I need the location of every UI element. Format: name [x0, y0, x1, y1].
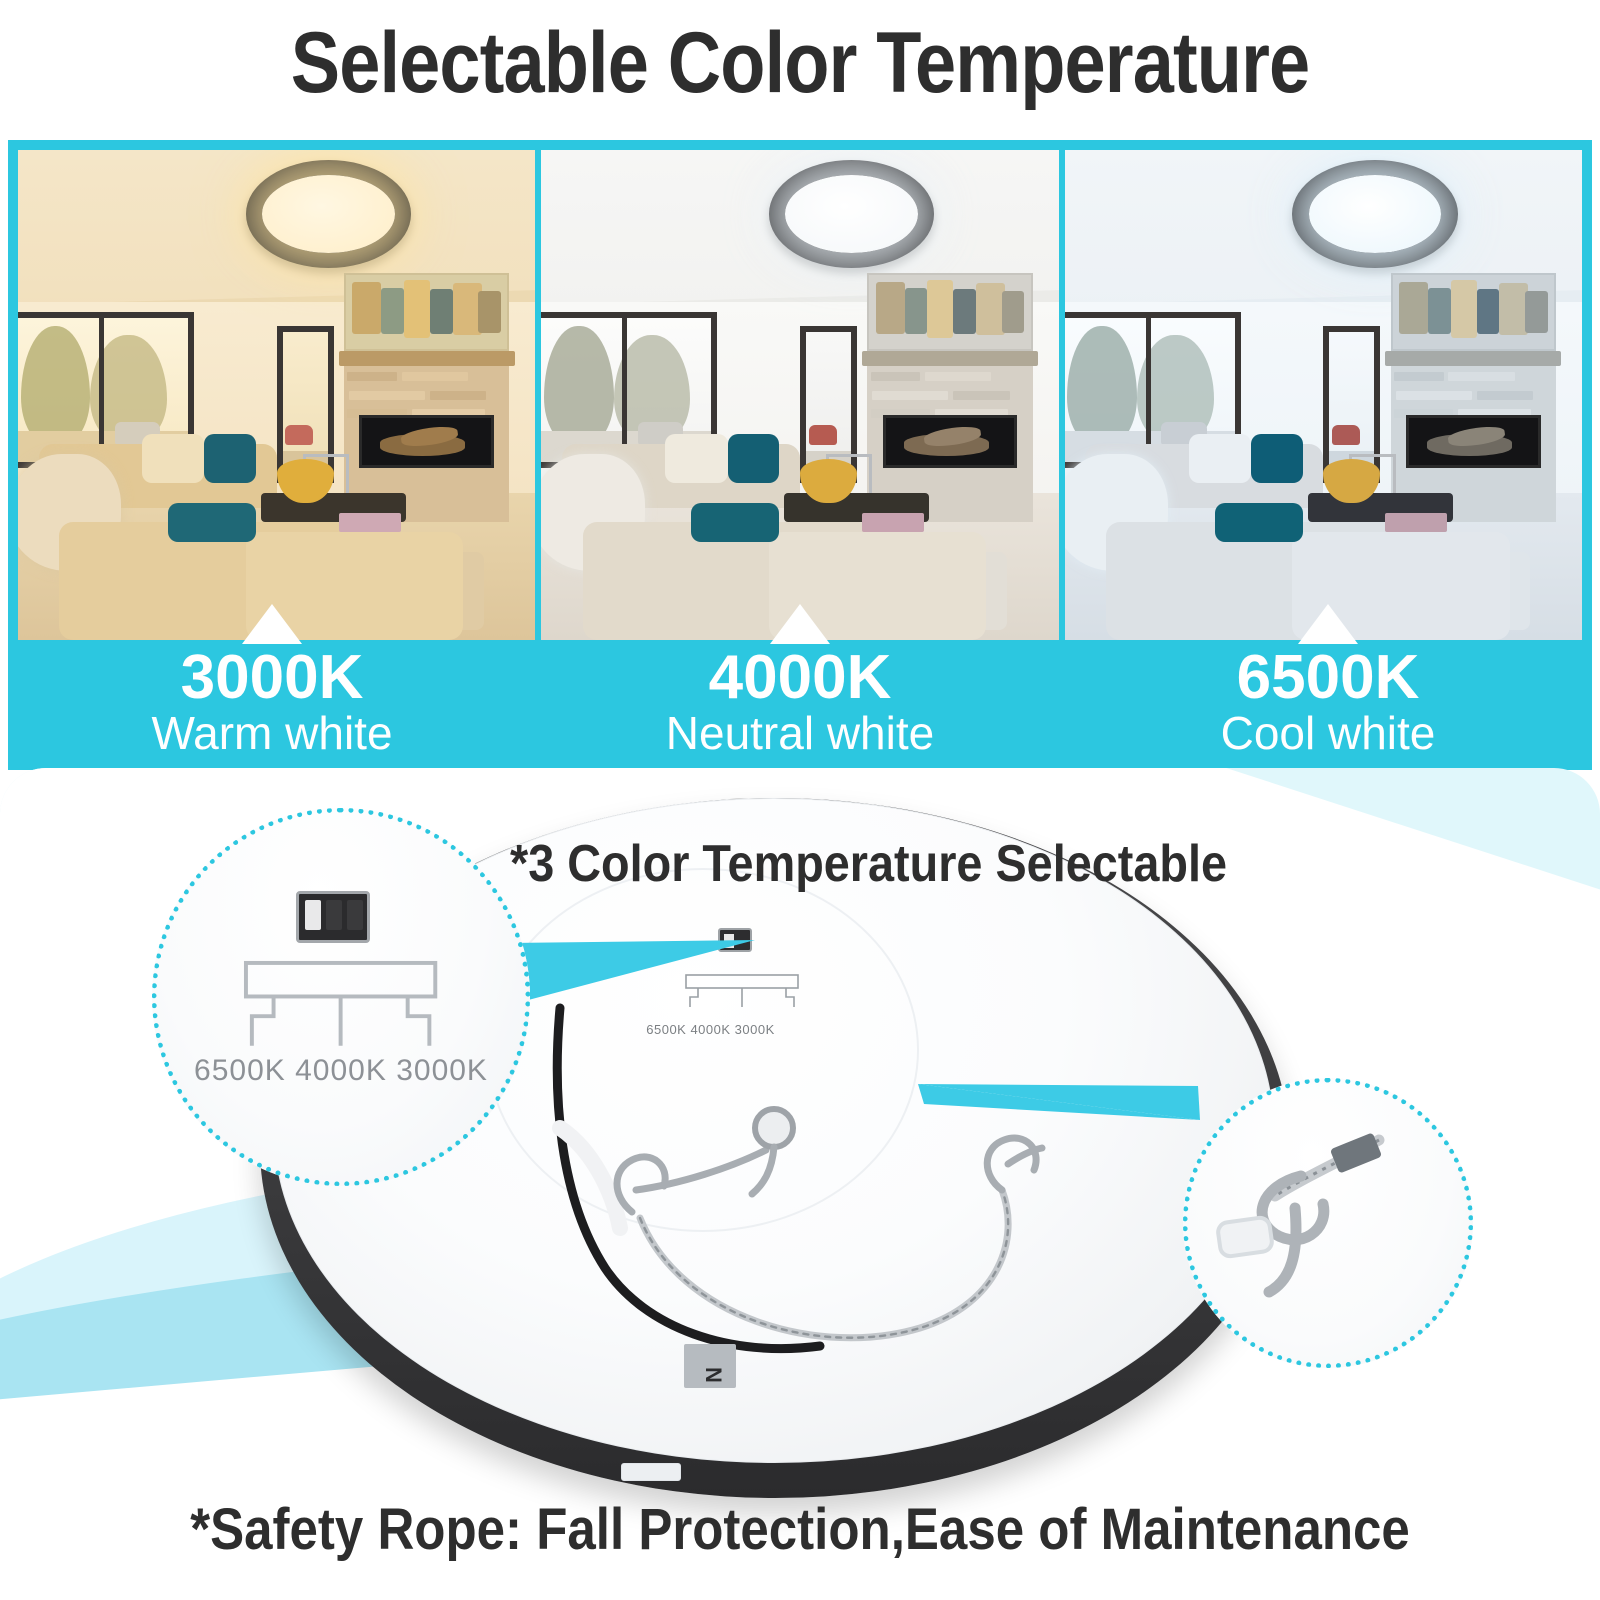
teal-pillow [168, 503, 256, 542]
book [862, 513, 924, 533]
mantel [1385, 351, 1561, 366]
ceiling-light-fixture [246, 160, 412, 268]
wall-art [1391, 273, 1557, 351]
teal-pillow [204, 434, 256, 483]
room-scene-6500k [1065, 150, 1582, 640]
throw-pillow [142, 434, 204, 483]
window-mullion [622, 318, 627, 463]
car [1332, 425, 1360, 445]
kelvin-name: Cool white [1221, 709, 1436, 757]
firebox [1406, 415, 1541, 469]
subsection-title: *3 Color Temperature Selectable [510, 834, 1227, 894]
temperature-label-band: 3000K Warm white 4000K Neutral white 650… [8, 640, 1592, 770]
book [1385, 513, 1447, 533]
dip-switch-zoomed[interactable] [296, 891, 370, 943]
switch-toggle-3000k[interactable] [347, 900, 363, 930]
pointer-triangle-icon [242, 604, 302, 644]
teal-pillow [1215, 503, 1303, 542]
teal-pillow [691, 503, 779, 542]
kelvin-name: Neutral white [666, 709, 934, 757]
teal-pillow [1251, 434, 1303, 483]
temperature-options-label: 6500K 4000K 3000K [152, 1054, 530, 1088]
color-temperature-comparison-strip: 3000K Warm white 4000K Neutral white 650… [8, 140, 1592, 770]
carabiner-hook-icon [1183, 1078, 1473, 1368]
pointer-triangle-icon [770, 604, 830, 644]
mantel [862, 351, 1038, 366]
footer-caption: *Safety Rope: Fall Protection,Ease of Ma… [96, 1496, 1504, 1563]
callout-switch-detail: 6500K 4000K 3000K [152, 808, 530, 1186]
car [809, 425, 837, 445]
kelvin-name: Warm white [151, 709, 392, 757]
wall-art [867, 273, 1033, 351]
window-mullion [99, 318, 104, 463]
throw-pillow [1189, 434, 1251, 483]
book [339, 513, 401, 533]
room-scene-row [18, 150, 1582, 640]
room-illustration [541, 150, 1058, 640]
page-title: Selectable Color Temperature [112, 8, 1488, 118]
room-scene-3000k [18, 150, 535, 640]
tree [544, 326, 614, 445]
wall-art [344, 273, 510, 351]
room-illustration [18, 150, 535, 640]
light-diffuser [262, 175, 394, 253]
mantel [339, 351, 515, 366]
ceiling-light-fixture [1292, 160, 1458, 268]
switch-toggle-6500k[interactable] [305, 900, 321, 930]
pointer-triangle-icon [1298, 604, 1358, 644]
kelvin-value: 3000K [181, 646, 364, 709]
light-diffuser [785, 175, 917, 253]
temperature-label-6500k: 6500K Cool white [1064, 640, 1592, 770]
room-illustration [1065, 150, 1582, 640]
callout-rope-detail [1183, 1078, 1473, 1368]
room-scene-4000k [541, 150, 1058, 640]
temperature-label-3000k: 3000K Warm white [8, 640, 536, 770]
teal-pillow [728, 434, 780, 483]
window-mullion [1146, 318, 1151, 463]
bracket-diagram [231, 959, 450, 1050]
kelvin-value: 4000K [709, 646, 892, 709]
switch-toggle-4000k[interactable] [326, 900, 342, 930]
temperature-label-4000k: 4000K Neutral white [536, 640, 1064, 770]
car [285, 425, 313, 445]
ceiling-light-fixture [769, 160, 935, 268]
kelvin-value: 6500K [1237, 646, 1420, 709]
light-diffuser [1309, 175, 1441, 253]
throw-pillow [665, 434, 727, 483]
firebox [359, 415, 494, 469]
firebox [883, 415, 1018, 469]
